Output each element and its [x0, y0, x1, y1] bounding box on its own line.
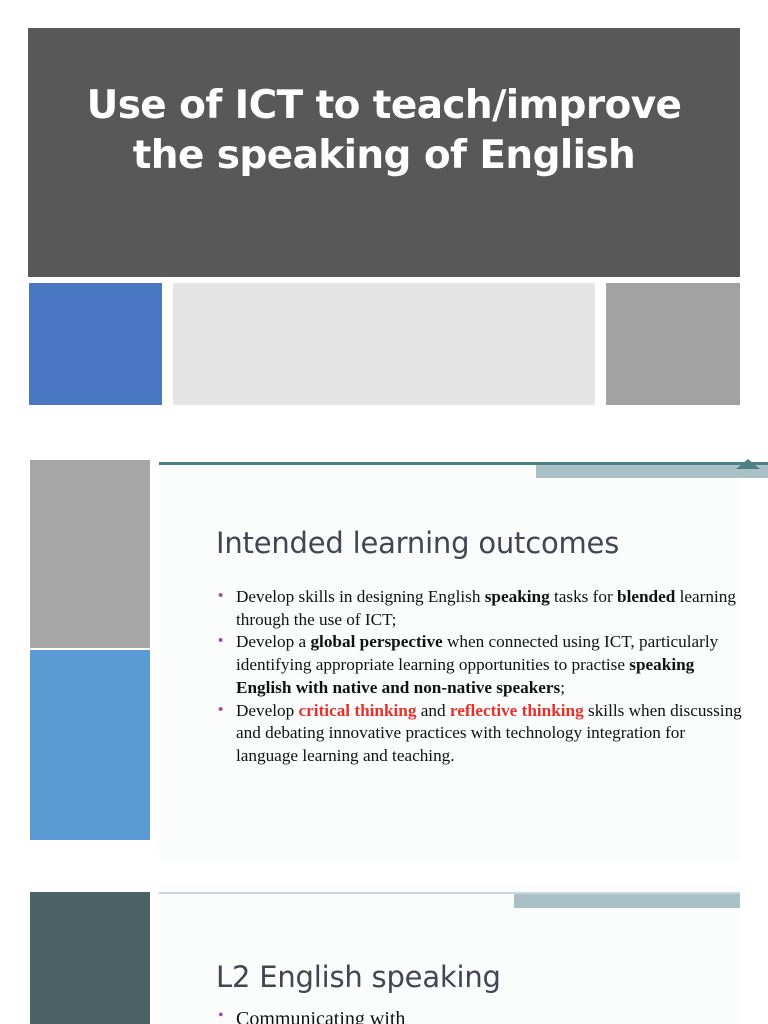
bullet-text-2: Develop a global perspective when connec… [236, 631, 744, 699]
list-item: Develop skills in designing English spea… [214, 586, 744, 631]
slide-title-text: Use of ICT to teach/improve the speaking… [28, 81, 740, 181]
slide2-bullet-list: Develop skills in designing English spea… [214, 586, 744, 768]
triangle-notch-icon [736, 459, 760, 469]
presentation-page: Use of ICT to teach/improve the speaking… [0, 0, 768, 1024]
light-gray-block [173, 283, 595, 405]
gray-block [606, 283, 740, 405]
slide3-heading: L2 English speaking [216, 960, 501, 994]
bullet-text-1: Develop skills in designing English spea… [236, 586, 744, 631]
accent-band [514, 894, 740, 908]
slide2-heading: Intended learning outcomes [216, 526, 619, 560]
accent-band [536, 465, 768, 478]
intended-learning-outcomes-slide: Intended learning outcomes Develop skill… [28, 458, 740, 860]
title-slide: Use of ICT to teach/improve the speaking… [28, 28, 740, 277]
blue-side-block [30, 650, 150, 840]
slide3-first-bullet: Communicating with [214, 1008, 734, 1024]
list-item: Develop critical thinking and reflective… [214, 700, 744, 768]
slide3-accent-bar [159, 886, 740, 908]
list-item: Develop a global perspective when connec… [214, 631, 744, 699]
l2-english-speaking-slide: L2 English speaking Communicating with [28, 886, 740, 1024]
slide2-accent-bar [159, 458, 768, 480]
color-block-band [0, 283, 768, 405]
bullet-text-3: Develop critical thinking and reflective… [236, 700, 744, 768]
dark-teal-side-block [30, 892, 150, 1024]
gray-side-block [30, 460, 150, 648]
blue-block [29, 283, 162, 405]
